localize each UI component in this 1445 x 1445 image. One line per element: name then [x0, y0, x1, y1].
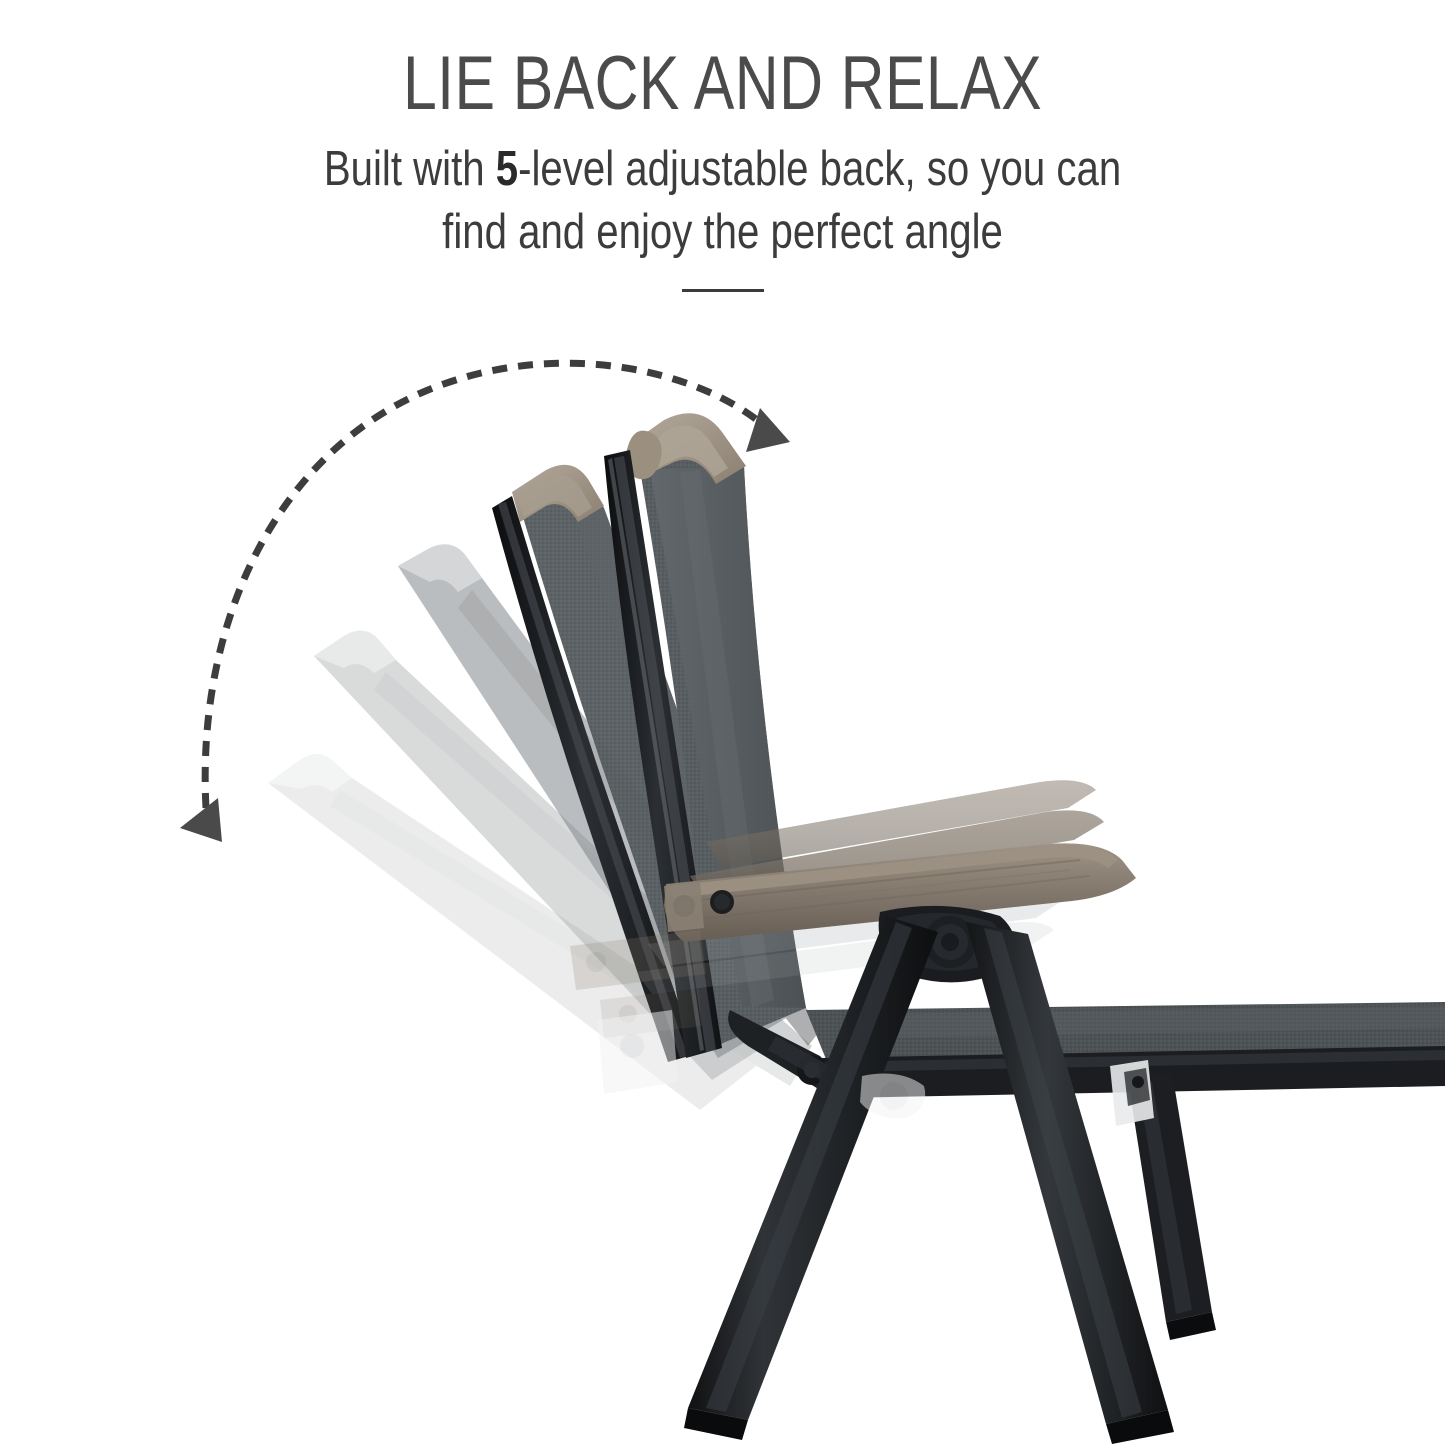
- arrow-head-left-icon: [180, 798, 222, 842]
- seat-hinge-brace: [1110, 1060, 1154, 1126]
- chair-illustration-svg: [0, 0, 1445, 1445]
- front-leg: [966, 922, 1174, 1444]
- product-feature-image: LIE BACK AND RELAX Built with 5-level ad…: [0, 0, 1445, 1445]
- product-illustration: [0, 0, 1445, 1445]
